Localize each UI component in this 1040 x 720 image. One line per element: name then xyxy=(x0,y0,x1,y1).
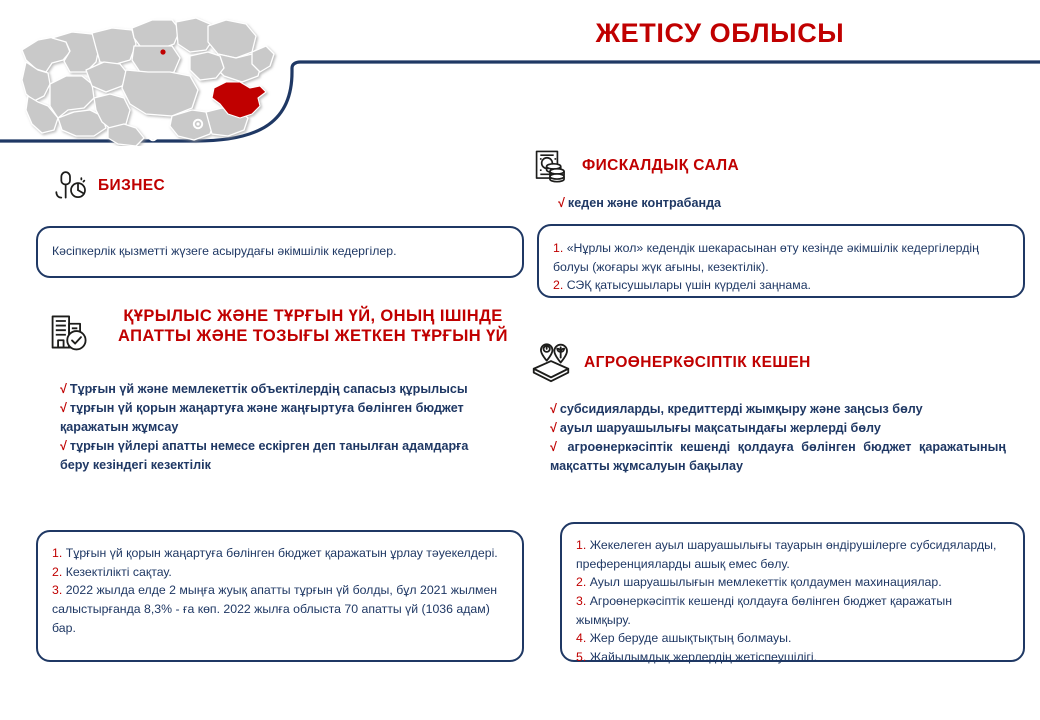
construction-bullet-1: √Тұрғын үй және мемлекеттік объектілерді… xyxy=(60,380,490,399)
business-box-line-1: Кәсіпкерлік қызметті жүзеге асырудағы әк… xyxy=(52,242,508,261)
agro-box-item-4: 4. Жер беруде ашықтықтың болмауы. xyxy=(576,629,1009,648)
section-agro: АГРОӨНЕРКӘСІПТІК КЕШЕН √субсидияларды, к… xyxy=(528,340,1028,476)
agro-bullet-1: √субсидияларды, кредиттерді жымқыру және… xyxy=(550,400,1006,419)
buildings-check-icon xyxy=(48,310,92,354)
page-title: ЖЕТІСУ ОБЛЫСЫ xyxy=(400,18,1040,49)
business-box: Кәсіпкерлік қызметті жүзеге асырудағы әк… xyxy=(36,226,524,278)
kazakhstan-map xyxy=(8,6,288,146)
agro-bullet-2: √ауыл шаруашылығы мақсатындағы жерлерді … xyxy=(550,419,1006,438)
map-pins-plants-icon xyxy=(528,340,574,386)
check-icon: √ xyxy=(60,382,70,396)
section-fiscal: ФИСКАЛДЫҚ САЛА √кеден және контрабанда xyxy=(532,146,1032,213)
construction-bullet-2: √тұрғын үй қорын жаңартуға және жаңғырту… xyxy=(60,399,490,437)
check-icon: √ xyxy=(60,401,70,415)
agro-box-item-2: 2. Ауыл шаруашылығын мемлекеттік қолдаум… xyxy=(576,573,1009,592)
fiscal-bullet-1: √кеден және контрабанда xyxy=(558,194,1032,213)
section-construction: ҚҰРЫЛЫС ЖӘНЕ ТҰРҒЫН ҮЙ, ОНЫҢ ІШІНДЕ АПАТ… xyxy=(48,306,524,474)
construction-title: ҚҰРЫЛЫС ЖӘНЕ ТҰРҒЫН ҮЙ, ОНЫҢ ІШІНДЕ АПАТ… xyxy=(102,306,524,346)
fiscal-box-item-1: 1. «Нұрлы жол» кедендік шекарасынан өту … xyxy=(553,239,1009,276)
fiscal-title: ФИСКАЛДЫҚ САЛА xyxy=(582,157,739,176)
slide-canvas: ЖЕТІСУ ОБЛЫСЫ БИЗНЕС Кәсіпкерлік қызметт… xyxy=(0,0,1040,720)
agro-box-item-3: 3. Агроөнеркәсіптік кешенді қолдауға бөл… xyxy=(576,592,1009,629)
agro-title: АГРОӨНЕРКӘСІПТІК КЕШЕН xyxy=(584,354,811,373)
business-title: БИЗНЕС xyxy=(98,177,165,196)
construction-bullet-3: √тұрғын үйлері апатты немесе ескірген де… xyxy=(60,437,490,475)
construction-box-item-1: 1. Тұрғын үй қорын жаңартуға бөлінген бю… xyxy=(52,544,508,563)
construction-title-line-2: АПАТТЫ ЖӘНЕ ТОЗЫҒЫ ЖЕТКЕН ТҰРҒЫН ҮЙ xyxy=(102,326,524,346)
fiscal-box-item-2: 2. СЭҚ қатысушылары үшін күрделі заңнама… xyxy=(553,276,1009,295)
agro-box: 1. Жекелеген ауыл шаруашылығы тауарын өн… xyxy=(560,522,1025,662)
check-icon: √ xyxy=(550,440,560,454)
capital-marker xyxy=(160,49,165,54)
section-business: БИЗНЕС xyxy=(48,166,518,206)
check-icon: √ xyxy=(550,421,560,435)
construction-box: 1. Тұрғын үй қорын жаңартуға бөлінген бю… xyxy=(36,530,524,662)
agro-bullet-3: √ агроөнеркәсіптік кешенді қолдауға бөлі… xyxy=(550,438,1006,476)
agro-bullets: √субсидияларды, кредиттерді жымқыру және… xyxy=(550,400,1006,476)
check-icon: √ xyxy=(550,402,560,416)
agro-box-item-1: 1. Жекелеген ауыл шаруашылығы тауарын өн… xyxy=(576,536,1009,573)
business-person-chart-icon xyxy=(48,166,88,206)
agro-box-item-5: 5. Жайылымдық жерлердің жетіспеушілігі. xyxy=(576,648,1009,667)
business-heading: БИЗНЕС xyxy=(48,166,518,206)
fiscal-heading: ФИСКАЛДЫҚ САЛА xyxy=(532,146,1032,186)
money-banknote-coins-icon xyxy=(532,146,572,186)
construction-box-item-2: 2. Кезектілікті сақтау. xyxy=(52,563,508,582)
agro-heading: АГРОӨНЕРКӘСІПТІК КЕШЕН xyxy=(528,340,1028,386)
construction-heading: ҚҰРЫЛЫС ЖӘНЕ ТҰРҒЫН ҮЙ, ОНЫҢ ІШІНДЕ АПАТ… xyxy=(48,306,524,354)
construction-bullets: √Тұрғын үй және мемлекеттік объектілерді… xyxy=(60,380,490,474)
construction-box-item-3: 3. 2022 жылда елде 2 мыңға жуық апатты т… xyxy=(52,581,508,637)
fiscal-box: 1. «Нұрлы жол» кедендік шекарасынан өту … xyxy=(537,224,1025,298)
construction-title-line-1: ҚҰРЫЛЫС ЖӘНЕ ТҰРҒЫН ҮЙ, ОНЫҢ ІШІНДЕ xyxy=(102,306,524,326)
fiscal-bullets: √кеден және контрабанда xyxy=(558,194,1032,213)
check-icon: √ xyxy=(558,196,568,210)
check-icon: √ xyxy=(60,439,70,453)
